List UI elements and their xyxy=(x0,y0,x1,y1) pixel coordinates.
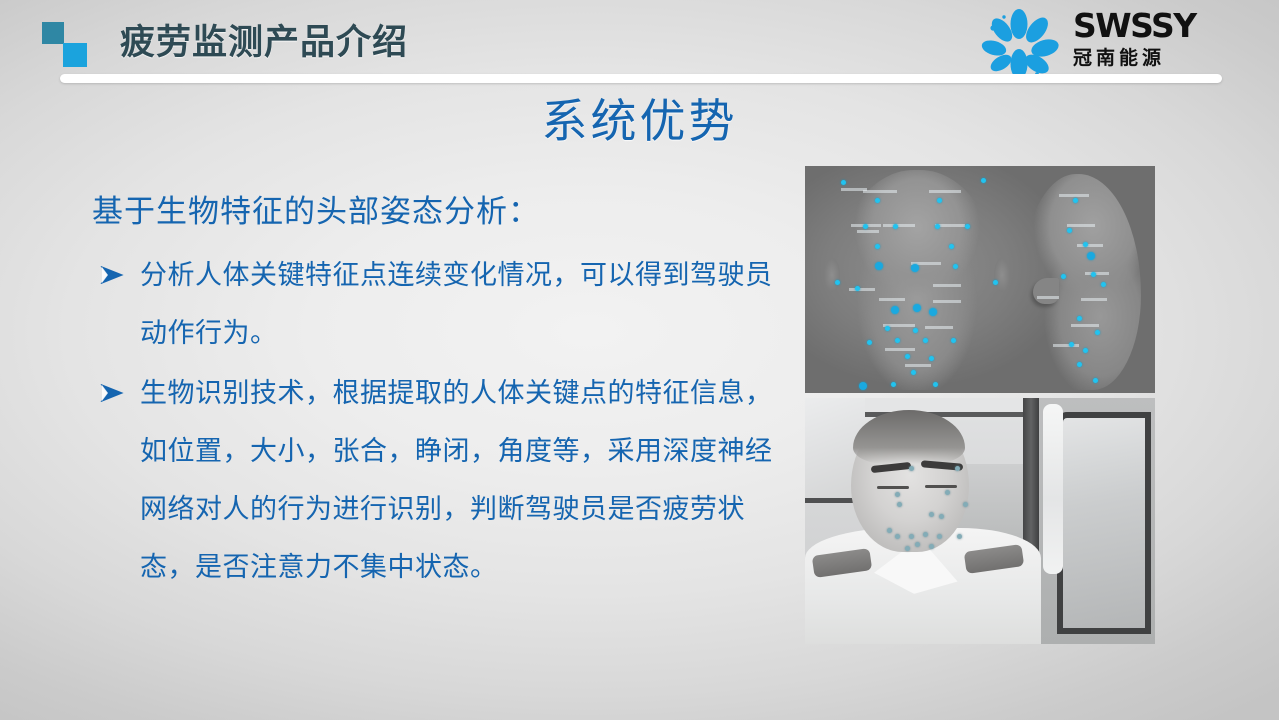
arrow-bullet-icon xyxy=(100,246,132,304)
decor-square-dark xyxy=(42,22,64,44)
bullet-text: 分析人体关键特征点连续变化情况，可以得到驾驶员动作行为。 xyxy=(140,260,773,348)
bullet-list: 分析人体关键特征点连续变化情况，可以得到驾驶员动作行为。 生物识别技术，根据提取… xyxy=(92,246,782,596)
water-droplet-flower-icon xyxy=(971,8,1067,80)
driver-fatigue-detection-photo xyxy=(805,398,1155,644)
cab-door-window xyxy=(1057,412,1151,634)
body-lead-text: 基于生物特征的头部姿态分析： xyxy=(92,186,782,238)
page-title: 系统优势 xyxy=(0,90,1279,152)
front-head-model xyxy=(833,170,1001,390)
slide-header: 疲劳监测产品介绍 xyxy=(0,0,1279,86)
header-divider xyxy=(60,74,1222,83)
decor-square-light xyxy=(63,43,87,67)
logo-subtitle: 冠南能源 xyxy=(1073,46,1221,72)
driver-eye-left-closed xyxy=(877,486,909,489)
slide-body: 基于生物特征的头部姿态分析： 分析人体关键特征点连续变化情况，可以得到驾驶员动作… xyxy=(92,186,782,598)
company-logo: SWSSY 冠南能源 xyxy=(971,6,1221,82)
presentation-slide: 疲劳监测产品介绍 xyxy=(0,0,1279,720)
list-item: 分析人体关键特征点连续变化情况，可以得到驾驶员动作行为。 xyxy=(92,246,782,362)
bullet-text: 生物识别技术，根据提取的人体关键点的特征信息，如位置，大小，张合，睁闭，角度等，… xyxy=(140,378,773,582)
face-landmark-3d-model-image xyxy=(805,166,1155,393)
profile-nose xyxy=(1033,278,1059,304)
arrow-bullet-icon xyxy=(100,364,132,422)
logo-name: SWSSY xyxy=(1073,8,1221,44)
header-decor-squares xyxy=(42,22,100,68)
logo-wordmark: SWSSY 冠南能源 xyxy=(1073,8,1221,72)
truck-cab-scene xyxy=(805,398,1155,644)
cab-curtain xyxy=(1043,404,1063,574)
head-models-illustration xyxy=(805,166,1155,393)
media-column xyxy=(805,166,1155,644)
driver-eye-right-closed xyxy=(925,485,957,488)
profile-head-model xyxy=(1021,174,1141,390)
header-title: 疲劳监测产品介绍 xyxy=(120,18,408,68)
list-item: 生物识别技术，根据提取的人体关键点的特征信息，如位置，大小，张合，睁闭，角度等，… xyxy=(92,364,782,596)
